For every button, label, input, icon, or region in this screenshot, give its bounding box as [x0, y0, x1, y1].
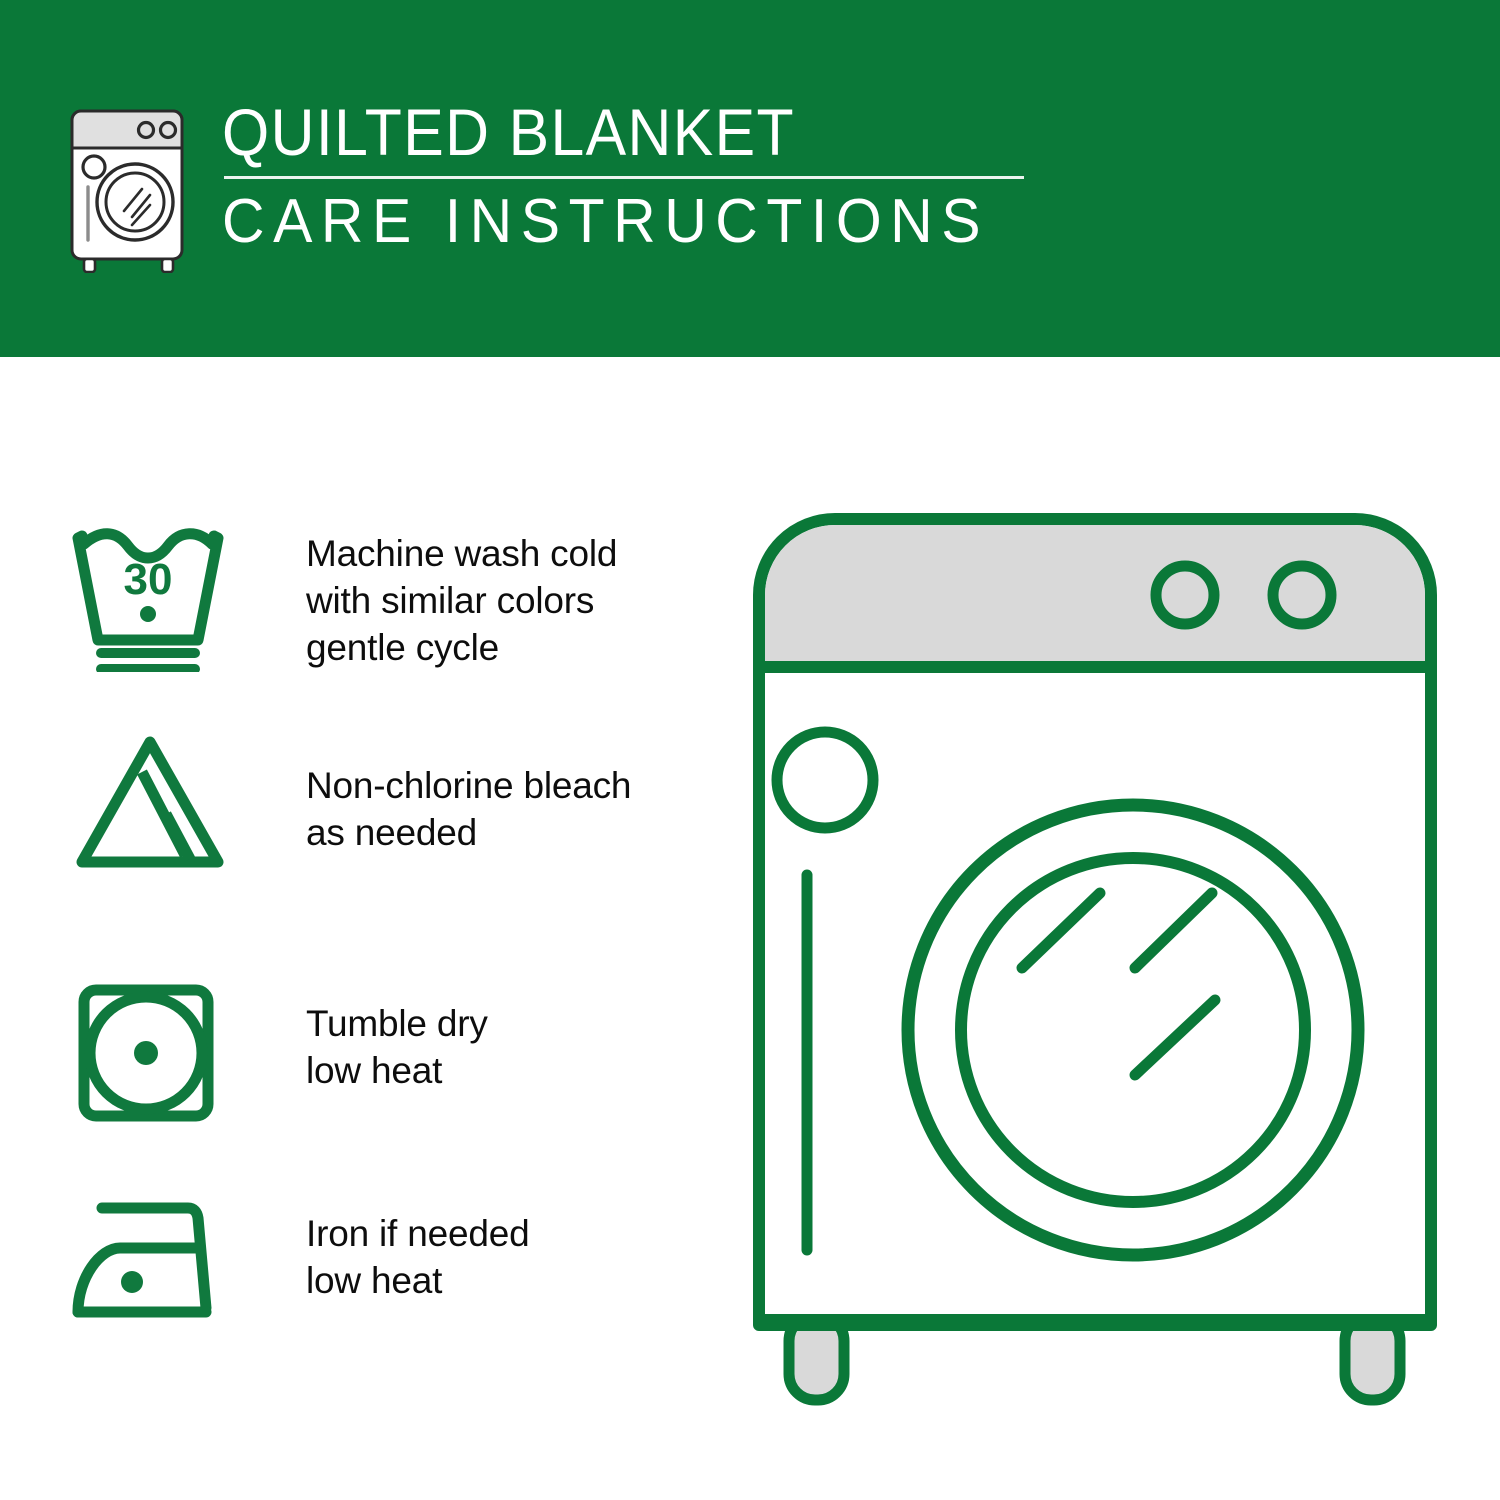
- list-item: Tumble dry low heat: [70, 978, 488, 1128]
- tumble-dry-square-icon: [70, 978, 240, 1128]
- care-symbol-slot: 30: [70, 522, 248, 672]
- page-subtitle: CARE INSTRUCTIONS: [222, 187, 989, 257]
- washing-machine-graphic: [745, 505, 1445, 1415]
- care-symbol-slot: [70, 728, 248, 878]
- header-titles: QUILTED BLANKET CARE INSTRUCTIONS: [222, 95, 1029, 257]
- care-symbol-slot: [70, 978, 248, 1128]
- header-content: QUILTED BLANKET CARE INSTRUCTIONS: [62, 95, 1029, 273]
- washing-machine-illustration: [745, 505, 1445, 1415]
- header-banner: QUILTED BLANKET CARE INSTRUCTIONS: [0, 0, 1500, 357]
- knob-right[interactable]: [1273, 566, 1331, 624]
- knob-left[interactable]: [1156, 566, 1214, 624]
- washing-machine-icon: [62, 103, 198, 273]
- care-symbol-slot: [70, 1190, 248, 1340]
- care-instruction-label: Machine wash cold with similar colors ge…: [306, 522, 617, 671]
- title-divider: [224, 176, 1024, 179]
- wash-temperature-value: 30: [124, 555, 173, 604]
- detergent-dispenser-circle[interactable]: [777, 732, 873, 828]
- machine-wash-tub-icon: 30: [70, 522, 240, 672]
- care-instruction-label: Non-chlorine bleach as needed: [306, 728, 631, 856]
- list-item: 30 Machine wash cold with similar colors…: [70, 522, 617, 672]
- list-item: Non-chlorine bleach as needed: [70, 728, 631, 878]
- door-inner-ring[interactable]: [961, 858, 1305, 1202]
- list-item: Iron if needed low heat: [70, 1190, 529, 1340]
- iron-low-heat-icon: [70, 1190, 240, 1340]
- care-instruction-label: Iron if needed low heat: [306, 1190, 529, 1304]
- non-chlorine-bleach-triangle-icon: [70, 728, 240, 878]
- care-instruction-label: Tumble dry low heat: [306, 978, 488, 1094]
- page-title: QUILTED BLANKET: [222, 95, 965, 169]
